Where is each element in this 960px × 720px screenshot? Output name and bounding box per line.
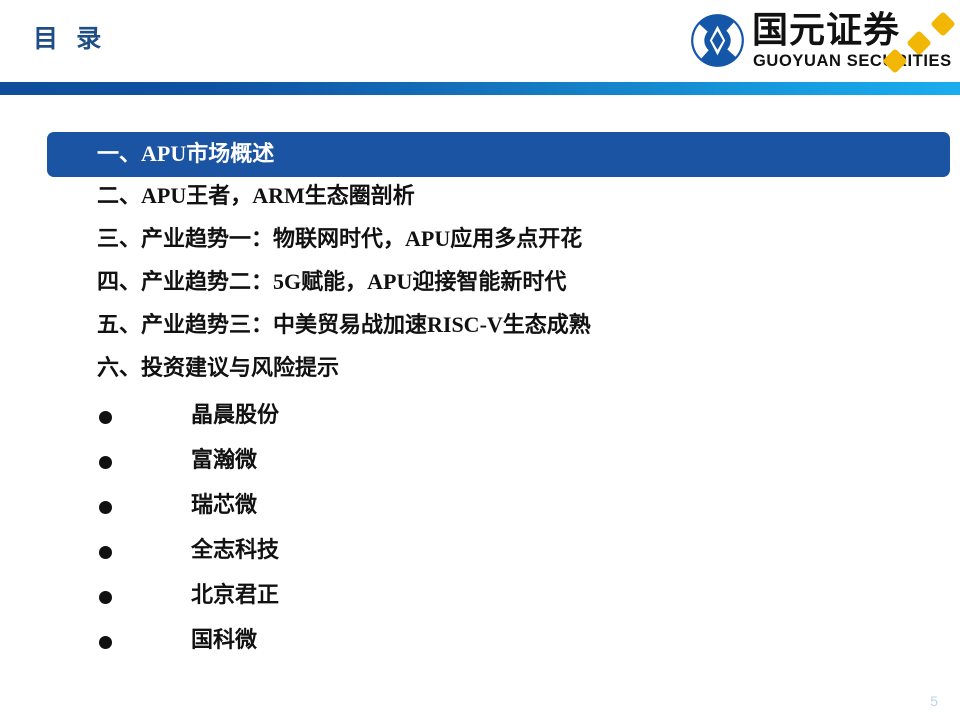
toc-item-5[interactable]: 五、产业趋势三：中美贸易战加速RISC-V生态成熟 xyxy=(0,303,960,346)
toc-list: 一、APU市场概述 二、APU王者，ARM生态圈剖析 三、产业趋势一：物联网时代… xyxy=(0,131,960,389)
brand-logo: 国元证券 GUOYUAN SECURITIES xyxy=(690,9,955,79)
diamond-icon-1 xyxy=(882,48,907,73)
toc-item-5-label: 五、产业趋势三：中美贸易战加速RISC-V生态成熟 xyxy=(97,311,591,340)
bullet-dot-icon xyxy=(99,456,112,469)
bullet-dot-icon xyxy=(99,591,112,604)
brand-name-cn: 国元证券 xyxy=(752,11,900,49)
diamond-icon-2 xyxy=(906,30,931,55)
bullet-dot-icon xyxy=(99,411,112,424)
company-bullet-list: 晶晨股份 富瀚微 瑞芯微 全志科技 北京君正 国科微 xyxy=(0,397,960,667)
bullet-item-2-label: 富瀚微 xyxy=(191,446,257,475)
toc-item-6[interactable]: 六、投资建议与风险提示 xyxy=(0,346,960,389)
guoyuan-circular-arrow-diamond-mark xyxy=(690,13,745,68)
bullet-item-3-label: 瑞芯微 xyxy=(191,491,257,520)
list-item[interactable]: 晶晨股份 xyxy=(0,397,960,442)
list-item[interactable]: 富瀚微 xyxy=(0,442,960,487)
toc-item-3-label: 三、产业趋势一：物联网时代，APU应用多点开花 xyxy=(97,225,582,254)
list-item[interactable]: 国科微 xyxy=(0,622,960,667)
list-item[interactable]: 全志科技 xyxy=(0,532,960,577)
bullet-item-6-label: 国科微 xyxy=(191,626,257,655)
bullet-item-4-label: 全志科技 xyxy=(191,536,279,565)
toc-item-1[interactable]: 一、APU市场概述 xyxy=(0,131,960,174)
toc-item-2[interactable]: 二、APU王者，ARM生态圈剖析 xyxy=(0,174,960,217)
list-item[interactable]: 瑞芯微 xyxy=(0,487,960,532)
toc-item-3[interactable]: 三、产业趋势一：物联网时代，APU应用多点开花 xyxy=(0,217,960,260)
toc-item-6-label: 六、投资建议与风险提示 xyxy=(97,354,339,383)
page-number: 5 xyxy=(930,694,938,708)
slide-canvas: 目 录 国元证券 GUOYUAN SECURITIES 一、APU市场概述 xyxy=(0,0,960,720)
diamond-icon-3 xyxy=(930,11,955,36)
list-item[interactable]: 北京君正 xyxy=(0,577,960,622)
diamond-accent-icon xyxy=(884,12,956,74)
bullet-dot-icon xyxy=(99,501,112,514)
bullet-dot-icon xyxy=(99,636,112,649)
header-divider-bar xyxy=(0,82,960,95)
toc-item-1-label: 一、APU市场概述 xyxy=(97,140,274,169)
bullet-item-1-label: 晶晨股份 xyxy=(191,401,279,430)
bullet-dot-icon xyxy=(99,546,112,559)
bullet-item-5-label: 北京君正 xyxy=(191,581,279,610)
toc-item-4-label: 四、产业趋势二：5G赋能，APU迎接智能新时代 xyxy=(97,268,566,297)
toc-item-2-label: 二、APU王者，ARM生态圈剖析 xyxy=(97,182,415,211)
page-title: 目 录 xyxy=(33,27,107,52)
toc-item-4[interactable]: 四、产业趋势二：5G赋能，APU迎接智能新时代 xyxy=(0,260,960,303)
